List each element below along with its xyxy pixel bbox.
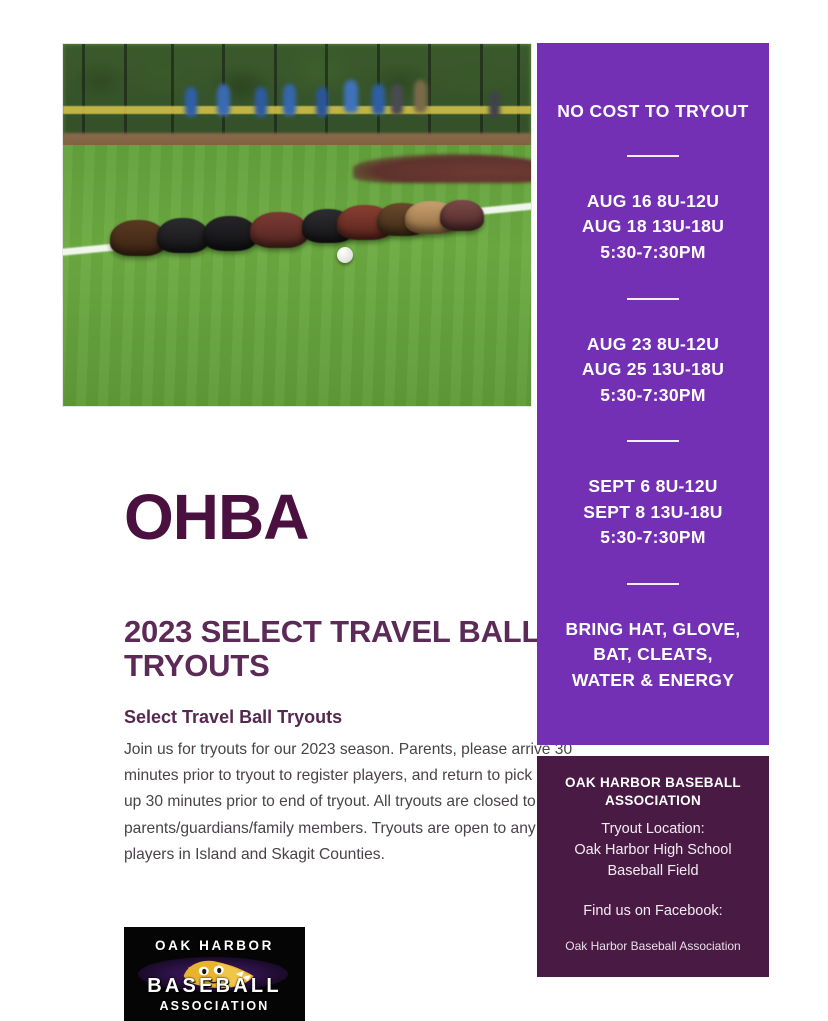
divider-rule	[627, 155, 679, 157]
baseball-field-photo	[62, 43, 532, 407]
logo-line-baseball: BASEBALL	[124, 975, 305, 998]
page-title: OHBA	[124, 485, 308, 549]
left-column: OHBA 2023 SELECT TRAVEL BALL TRYOUTS Sel…	[62, 43, 532, 407]
contact-info-panel: OAK HARBOR BASEBALL ASSOCIATION Tryout L…	[537, 756, 769, 977]
no-cost-heading: NO COST TO TRYOUT	[549, 101, 757, 123]
flyer-subhead: Select Travel Ball Tryouts	[124, 707, 594, 728]
oak-harbor-baseball-logo: OAK HARBOR BASEBALL ASSOCIATION	[124, 927, 305, 1021]
tryout-flyer: OHBA 2023 SELECT TRAVEL BALL TRYOUTS Sel…	[0, 0, 828, 1019]
session-1-line-2: AUG 18 13U-18U	[582, 216, 724, 236]
session-block-3: SEPT 6 8U-12U SEPT 8 13U-18U 5:30-7:30PM	[549, 474, 757, 551]
tryout-location-label: Tryout Location:	[601, 821, 704, 837]
association-name: OAK HARBOR BASEBALL ASSOCIATION	[553, 774, 753, 809]
facebook-page-name[interactable]: Oak Harbor Baseball Association	[553, 938, 753, 955]
session-block-2: AUG 23 8U-12U AUG 25 13U-18U 5:30-7:30PM	[549, 332, 757, 409]
logo-line-oak-harbor: OAK HARBOR	[124, 938, 305, 953]
session-3-line-3: 5:30-7:30PM	[600, 527, 705, 547]
bring-line-2: BAT, CLEATS,	[593, 644, 713, 664]
flyer-body-text: Join us for tryouts for our 2023 season.…	[124, 737, 596, 868]
session-1-line-3: 5:30-7:30PM	[600, 242, 705, 262]
facebook-label: Find us on Facebook:	[553, 901, 753, 922]
session-1-line-1: AUG 16 8U-12U	[587, 191, 719, 211]
session-2-line-2: AUG 25 13U-18U	[582, 359, 724, 379]
session-2-line-1: AUG 23 8U-12U	[587, 334, 719, 354]
schedule-panel: NO COST TO TRYOUT AUG 16 8U-12U AUG 18 1…	[537, 43, 769, 745]
bring-list: BRING HAT, GLOVE, BAT, CLEATS, WATER & E…	[549, 617, 757, 694]
session-3-line-2: SEPT 8 13U-18U	[583, 502, 722, 522]
photo-grass	[63, 145, 531, 406]
session-3-line-1: SEPT 6 8U-12U	[588, 476, 717, 496]
session-block-1: AUG 16 8U-12U AUG 18 13U-18U 5:30-7:30PM	[549, 189, 757, 266]
tryout-location-block: Tryout Location: Oak Harbor High School …	[553, 819, 753, 881]
logo-line-association: ASSOCIATION	[124, 999, 305, 1013]
spacer	[553, 881, 753, 901]
divider-rule	[627, 298, 679, 300]
divider-rule	[627, 440, 679, 442]
bring-line-1: BRING HAT, GLOVE,	[566, 619, 741, 639]
photo-infield-dirt	[353, 154, 532, 183]
photo-fence-rail	[63, 106, 531, 115]
bring-line-3: WATER & ENERGY	[572, 670, 734, 690]
right-column: NO COST TO TRYOUT AUG 16 8U-12U AUG 18 1…	[537, 43, 769, 977]
tryout-location-line-2: Baseball Field	[607, 863, 698, 879]
flyer-headline: 2023 SELECT TRAVEL BALL TRYOUTS	[124, 615, 594, 683]
divider-rule	[627, 583, 679, 585]
session-2-line-3: 5:30-7:30PM	[600, 385, 705, 405]
tryout-location-line-1: Oak Harbor High School	[574, 842, 731, 858]
photo-fence-posts	[63, 44, 531, 138]
